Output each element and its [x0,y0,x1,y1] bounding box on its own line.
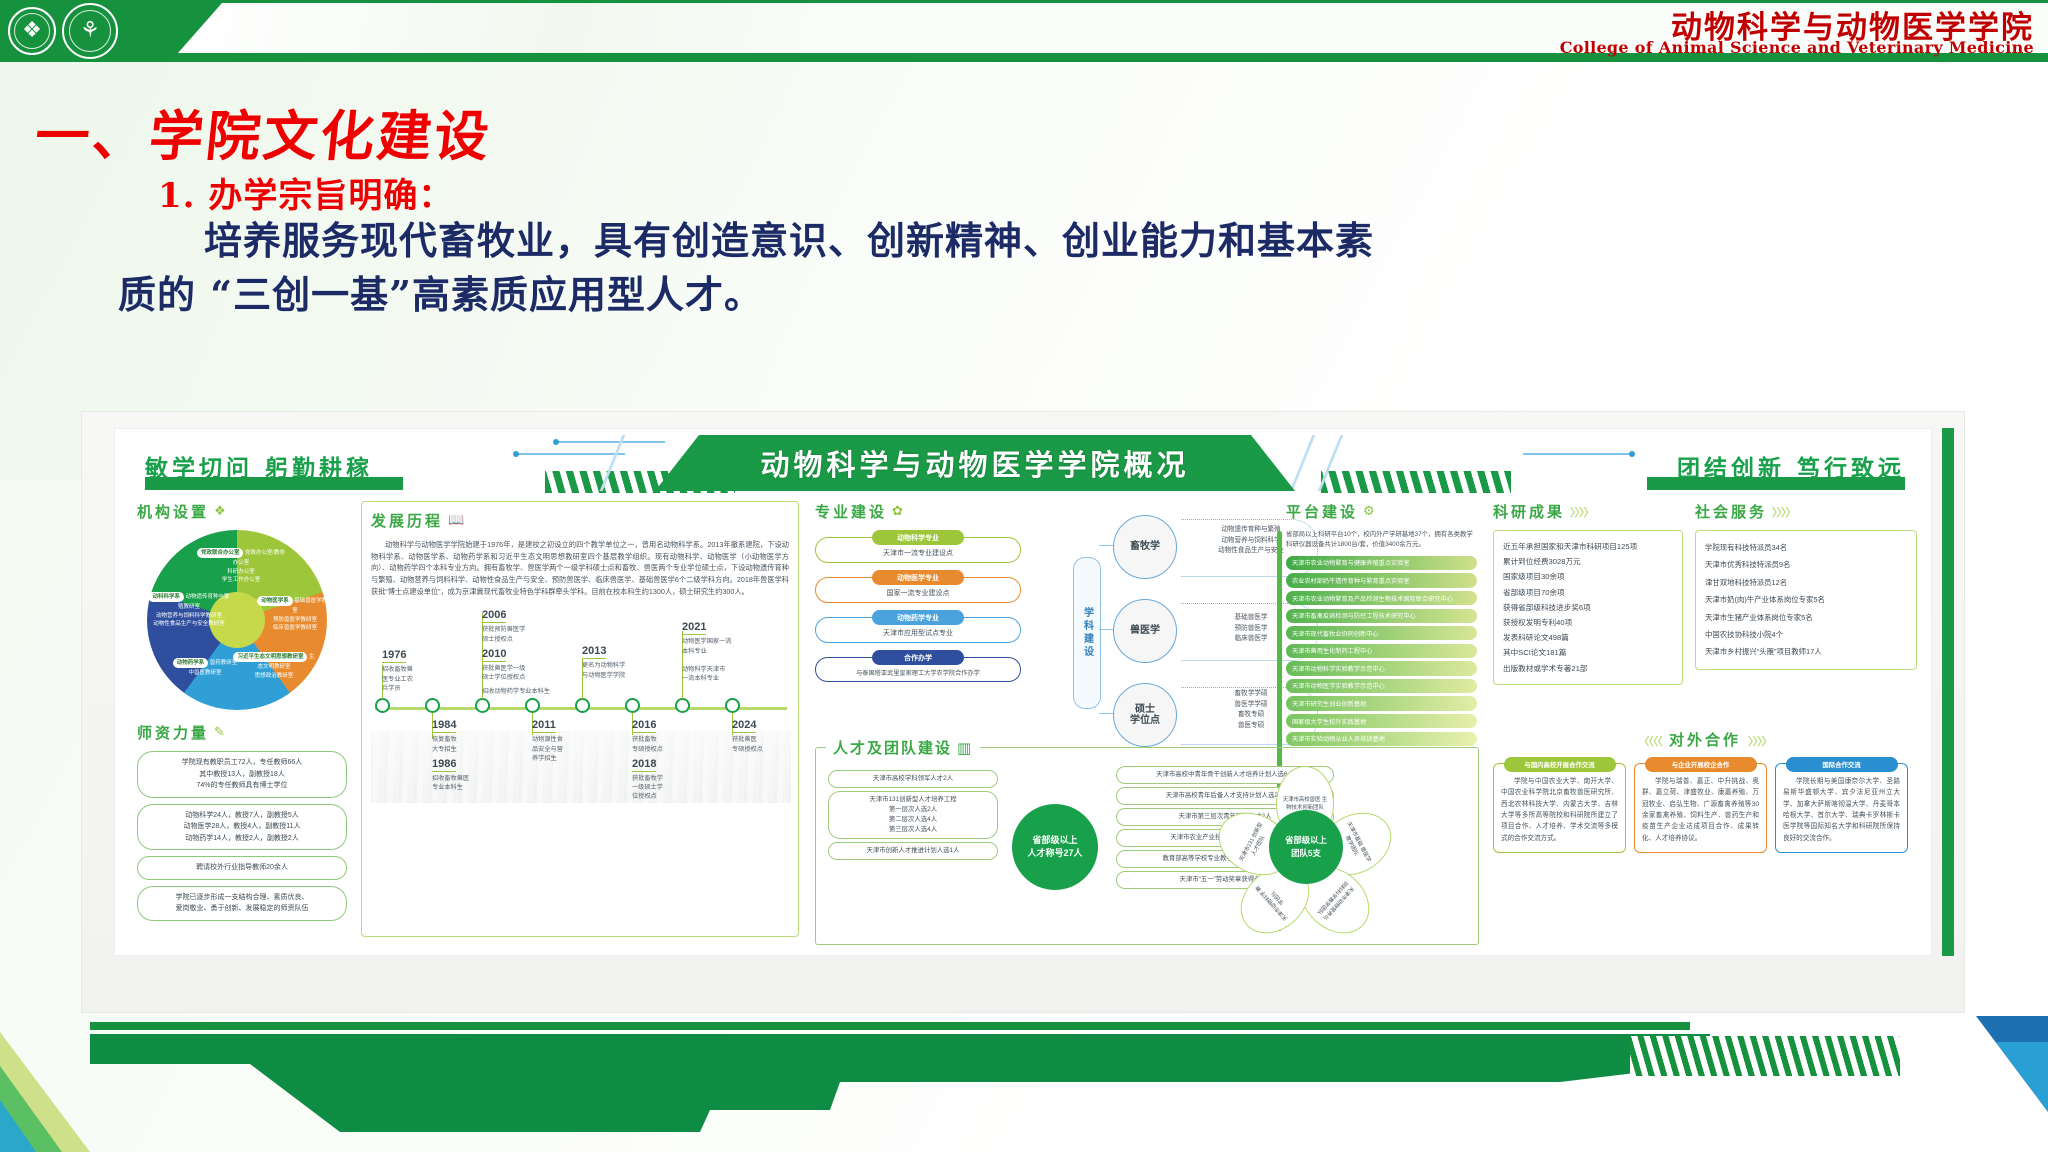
timeline-text-1986: 招收畜牧兽医 专业本科生 [432,774,516,793]
service-item-5: 中国农技协科技小院4个 [1705,626,1907,643]
cooperation-body-0: 学院与中国农业大学、南开大学、中国农业科学院北京畜牧兽医研究所、西北农林科技大学… [1493,763,1626,853]
timeline-text-2011: 动物源性食 品安全与营 养学招生 [532,735,616,763]
major-item-1: 动物医学专业 国家一流专业建设点 [815,570,1021,603]
history-paragraph-wrap: 动物科学与动物医学学院始建于1976年，是建校之初设立的四个教学单位之一，曾用名… [371,539,789,597]
section-title-history: 发展历程 📖 [371,510,789,531]
timeline-node-2 [475,698,490,713]
timeline-node-5 [625,698,640,713]
platform-item-9: 国家级大学生校外实践基地 [1286,714,1477,728]
faculty-card-2: 聘请校外行业指导教师20余人 [137,856,347,880]
display-board-content: 敏学切问 躬勤耕稼 团结创新 笃行致远 动物科学与动物医学学院概况 [114,428,1932,956]
service-frame: 学院现有科技特派员34名 天津市优秀科技特派员9名 津甘双地科技特派员12名 天… [1695,530,1917,670]
board-columns: 机构设置 ❖ 党政联合办公室 党政办公室/教务办公室 科研办公室 学生工作办公室… [115,501,1933,953]
banner-bar-right [1647,477,1905,490]
discipline-circle-1: 兽医学 [1113,599,1177,663]
timeline-text-2013: 更名为动物科学 与动物医学学院 [582,661,666,680]
discipline-circle-0: 畜牧学 [1113,515,1177,579]
history-title-text: 发展历程 [371,510,443,531]
timeline-year-1986: 1986 [432,758,456,772]
donut-chip-4: 动科科学系 [148,592,184,602]
timeline-year-2016: 2016 [632,719,656,733]
talent-team-section: 人才及团队建设 ▥ 天津市高校学科领军人才2人 天津市131创新型人才培养工程 … [815,747,1479,945]
book-icon: 📖 [448,513,467,528]
history-paragraph: 动物科学与动物医学学院始建于1976年，是建校之初设立的四个教学单位之一，曾用名… [371,539,789,597]
timeline-year-2006: 2006 [482,609,506,623]
timeline-item-2016: 2016 获批畜牧 专硕授权点 2018 获批畜牧学 一级硕士学 位授权点 [632,715,716,801]
platform-item-10: 天津市实验动物从业人员培训基地 [1286,732,1477,746]
column-history: 发展历程 📖 动物科学与动物医学学院始建于1976年，是建校之初设立的四个教学单… [361,501,799,953]
faculty-title-text: 师资力量 [137,722,209,743]
cooperation-title-text: 对外合作 [1669,732,1741,749]
platform-item-7: 天津市动物医学实验教学示范中心 [1286,679,1477,693]
timeline-item-2013: 2013 更名为动物科学 与动物医学学院 [582,641,666,680]
service-item-4: 天津市生猪产业体系岗位专家5名 [1705,609,1907,626]
chevrons-left-icon: 〈〈〈〈 [1638,736,1662,748]
timeline-node-4 [575,698,590,713]
research-item-0: 近五年承担国家和天津市科研项目125项 [1503,539,1673,554]
platform-item-3: 天津市畜禽疫病检测与防控工程技术研究中心 [1286,609,1477,623]
donut-chip-3: 动物药学系 [173,658,209,668]
banner-dot-1 [513,451,519,457]
cooperation-card-2: 国际合作交流 学院长期与美国康奈尔大学、圣路易斯华盛顿大学、宾夕法尼亚州立大学、… [1775,757,1908,853]
research-list: 近五年承担国家和天津市科研项目125项 累计到位经费3028万元 国家级项目30… [1503,539,1673,676]
timeline-text-2010: 获批兽医学一级 硕士学位授权点 [482,664,566,683]
college-emblem-logo: ⚘ [62,3,118,59]
section-title-platform: 平台建设 ⚙ [1286,501,1477,522]
pencil-icon: ✎ [214,725,228,740]
service-item-1: 天津市优秀科技特派员9名 [1705,556,1907,573]
timeline-node-1 [425,698,440,713]
footer-corner-triangles [0,1032,90,1152]
section-title-faculty: 师资力量 ✎ [137,722,347,743]
faculty-card-0: 学院现有教职员工72人，专任教师66人 其中教授13人，副教授18人 74%的专… [137,751,347,798]
service-item-0: 学院现有科技特派员34名 [1705,539,1907,556]
section-subtitle: 1. 办学宗旨明确： [158,168,453,217]
team-flower-diagram: 天津市高校兽医 生物技术创新团队 天津市基础 兽医学教学团队 天津市动物营养与 … [1220,766,1390,930]
corner-triangle-teal [0,1100,36,1152]
talent-center-badge: 省部级以上 人才称号27人 [1012,804,1098,890]
platform-item-1: 农业农村部奶牛遗传育种与繁育重点实验室 [1286,573,1477,587]
footer-top-bar [90,1022,1690,1030]
platform-item-5: 天津市兽用生化制药工程中心 [1286,644,1477,658]
bar-chart-icon: ▥ [957,739,973,757]
cooperation-card-0: 与国内高校开展合作交流 学院与中国农业大学、南开大学、中国农业科学院北京畜牧兽医… [1493,757,1626,853]
research-item-5: 获授权发明专利40项 [1503,615,1673,630]
research-item-8: 出版教材或学术专著21部 [1503,661,1673,676]
footer-corner-blue [1976,1016,2048,1112]
cooperation-head-0: 与国内高校开展合作交流 [1504,757,1616,772]
timeline-node-0 [375,698,390,713]
section-title-research: 科研成果 〉〉〉〉 [1493,501,1683,522]
cooperation-body-1: 学院与瑞普、嘉正、中升挑战、奥群、嘉立荷、津盛牧业、康嘉养殖、万冠牧业、启弘生物… [1634,763,1767,853]
research-item-2: 国家级项目30余项 [1503,569,1673,584]
timeline-text-2018: 获批畜牧学 一级硕士学 位授权点 [632,774,716,802]
donut-label-1: 动物医学系 基础兽医学教研室 预防兽医学教研室 临床兽医学教研室 [255,596,335,632]
timeline-year-2010: 2010 [482,648,506,662]
donut-label-4: 动科科学系 动物遗传育种与繁殖教研室 动物营养与饲料科学教研室 动物性食品生产与… [147,592,231,628]
research-item-1: 累计到位经费3028万元 [1503,554,1673,569]
discipline-spine: 学科建设 [1073,557,1101,709]
timeline-text-1976: 招收畜牧兽 医专业工农 兵学员 [382,665,466,693]
talent-left-item-2: 天津市创新人才推进计划人选1人 [828,842,998,860]
section-title-organization: 机构设置 ❖ [137,501,347,522]
cooperation-head-1: 与企业开展校企合作 [1645,757,1757,772]
banner-bar-left [145,477,403,490]
timeline-year-2024: 2024 [732,719,756,733]
chevrons-right-icon: 〉〉〉〉 [1570,504,1594,520]
research-title-text: 科研成果 [1493,501,1565,522]
major-item-3: 合作办学 与泰国塔亚武里皇家理工大学农学院合作办学 [815,650,1021,682]
major-head-2: 动物药学专业 [872,610,964,625]
banner-dot-2 [553,439,559,445]
platform-item-0: 天津市农业动物繁育与健康养殖重点实验室 [1286,556,1477,570]
emblem-glyph-icon: ⚘ [80,20,100,42]
university-seal-inner: ❖ [14,13,50,49]
chevrons-right-icon-3: 〉〉〉〉 [1748,736,1772,748]
timeline-year-1976: 1976 [382,649,406,663]
timeline-year-1984: 1984 [432,719,456,733]
university-seal-logo: ❖ [8,7,56,55]
chevrons-right-icon-2: 〉〉〉〉 [1772,504,1796,520]
discipline-circle-2: 硕士 学位点 [1113,683,1177,747]
cooperation-text-0: 学院与中国农业大学、南开大学、中国农业科学院北京畜牧兽医研究所、西北农林科技大学… [1501,776,1618,844]
service-list: 学院现有科技特派员34名 天津市优秀科技特派员9名 津甘双地科技特派员12名 天… [1705,539,1907,661]
organization-donut-chart: 党政联合办公室 党政办公室/教务办公室 科研办公室 学生工作办公室 动物医学系 … [137,530,337,712]
discipline-spine-label: 学科建设 [1080,607,1095,659]
talent-left-item-0: 天津市高校学科领军人才2人 [828,770,998,788]
cooperation-text-1: 学院与瑞普、嘉正、中升挑战、奥群、嘉立荷、津盛牧业、康嘉养殖、万冠牧业、启弘生物… [1642,776,1759,844]
faculty-card-3: 学院已逐步形成一支结构合理、素质优良、 爱岗敬业、勇于创新、发展稳定的师资队伍 [137,886,347,921]
banner-line-1 [515,453,625,455]
book-open-icon: ✿ [892,504,906,519]
donut-chip-0: 党政联合办公室 [197,548,244,558]
display-board-photo: 敏学切问 躬勤耕稼 团结创新 笃行致远 动物科学与动物医学学院概况 [82,412,1964,1012]
timeline-text-1984: 恢复畜牧 大专招生 [432,735,516,754]
timeline-item-2006: 2006 获批预防兽医学 硕士授权点 2010 获批兽医学一级 硕士学位授权点 … [482,605,566,696]
page-title: 一、学院文化建设 [32,92,496,171]
body-paragraph: 培养服务现代畜牧业，具有创造意识、创新精神、创业能力和基本素 质的 “三创一基”… [118,214,1818,322]
major-head-1: 动物医学专业 [872,570,964,585]
timeline-item-1976: 1976 招收畜牧兽 医专业工农 兵学员 [382,645,466,693]
section-title-service: 社会服务 〉〉〉〉 [1695,501,1917,522]
timeline-item-2024: 2024 获批兽医 专硕授权点 [732,715,816,754]
major-item-0: 动物科学专业 天津市一流专业建设点 [815,530,1021,563]
body-line-2: 质的 “三创一基”高素质应用型人才。 [118,272,763,317]
platform-item-8: 天津市研究生创业创新基地 [1286,696,1477,710]
footer-hatch-decor [1630,1036,1900,1076]
timeline-year-2018: 2018 [632,758,656,772]
major-head-3: 合作办学 [872,650,964,665]
platform-item-2: 天津市农业动物繁育及产品检测生物技术国际联合研究中心 [1286,591,1477,605]
service-item-2: 津甘双地科技特派员12名 [1705,574,1907,591]
talent-left-list: 天津市高校学科领军人才2人 天津市131创新型人才培养工程 第一层次人选2人 第… [828,770,998,863]
column-organization: 机构设置 ❖ 党政联合办公室 党政办公室/教务办公室 科研办公室 学生工作办公室… [137,501,347,953]
platform-note: 省部局以上科研平台10个，校内外产学研基地37个，拥有各类教学科研仪器设备共计1… [1286,530,1477,550]
seal-glyph-icon: ❖ [22,20,42,42]
timeline-item-1984: 1984 恢复畜牧 大专招生 1986 招收畜牧兽医 专业本科生 [432,715,516,792]
service-item-6: 天津市乡村振兴“头雁”项目教师17人 [1705,643,1907,660]
major-head-0: 动物科学专业 [872,530,964,545]
service-item-3: 天津市奶(肉)牛产业体系岗位专家5名 [1705,591,1907,608]
body-line-1: 培养服务现代畜牧业，具有创造意识、创新精神、创业能力和基本素 [118,214,1818,268]
talent-left-item-1: 天津市131创新型人才培养工程 第一层次人选2人 第二层次人选4人 第三层次人选… [828,791,998,839]
board-banner-title-plate: 动物科学与动物医学学院概况 [655,435,1295,491]
timeline-year-2013: 2013 [582,645,606,659]
timeline-text-2021: 动物医学国家一流 本科专业 动物科学天津市 一流本科专业 [682,637,766,683]
research-item-6: 发表科研论文498篇 [1503,630,1673,645]
timeline-year-2021: 2021 [682,621,706,635]
cooperation-text-2: 学院长期与美国康奈尔大学、圣路易斯华盛顿大学、宾夕法尼亚州立大学、加拿大萨斯喀彻… [1783,776,1900,844]
college-name-en: College of Animal Science and Veterinary… [1560,38,2034,57]
banner-dot-3 [1629,451,1635,457]
timeline-text-2006: 获批预防兽医学 硕士授权点 [482,625,566,644]
corner-triangle-lightblue [1996,1042,2048,1112]
platform-item-4: 天津市现代畜牧业协同创新中心 [1286,626,1477,640]
timeline-text-2016: 获批畜牧 专硕授权点 [632,735,716,754]
donut-label-0: 党政联合办公室 党政办公室/教务办公室 科研办公室 学生工作办公室 [195,548,287,584]
major-item-2: 动物药学专业 天津市应用型试点专业 [815,610,1021,643]
timeline-node-3 [525,698,540,713]
donut-chip-1: 动物医学系 [257,596,293,606]
cooperation-head-2: 国际合作交流 [1786,757,1898,772]
research-frame: 近五年承担国家和天津市科研项目125项 累计到位经费3028万元 国家级项目30… [1493,530,1683,685]
talent-title-text: 人才及团队建设 [833,737,952,758]
research-item-4: 获得省部级科技进步奖6项 [1503,600,1673,615]
organization-title-text: 机构设置 [137,501,209,522]
platform-item-6: 天津市动物科学实验教学示范中心 [1286,661,1477,675]
service-title-text: 社会服务 [1695,501,1767,522]
history-frame: 发展历程 📖 动物科学与动物医学学院始建于1976年，是建校之初设立的四个教学单… [361,501,799,937]
board-right-green-stripe [1942,428,1954,956]
timeline-node-7 [725,698,740,713]
board-banner-title: 动物科学与动物医学学院概况 [760,442,1189,484]
research-item-7: 其中SCI论文181篇 [1503,645,1673,660]
timeline-node-6 [675,698,690,713]
team-flower-core: 省部级以上 团队5支 [1269,810,1343,884]
research-item-3: 省部级项目70余项 [1503,585,1673,600]
section-title-talent: 人才及团队建设 ▥ [826,737,980,758]
timeline-text-2024: 获批兽医 专硕授权点 [732,735,816,754]
org-chart-icon: ❖ [214,504,229,519]
header-sheen [178,3,878,53]
section-title-majors: 专业建设 ✿ [815,501,1065,522]
cooperation-section: 〈〈〈〈 对外合作 〉〉〉〉 与国内高校开展合作交流 学院与中国农业大学、南开大… [1493,729,1917,943]
section-title-cooperation: 〈〈〈〈 对外合作 〉〉〉〉 [1493,729,1917,750]
college-emblem-inner: ⚘ [69,10,112,53]
board-banner-row: 敏学切问 躬勤耕稼 团结创新 笃行致远 动物科学与动物医学学院概况 [115,429,1933,499]
timeline-text-extra: 招收动物药学专业本科生 [482,687,566,696]
platform-title-text: 平台建设 [1286,501,1358,522]
majors-title-text: 专业建设 [815,501,887,522]
cooperation-cards: 与国内高校开展合作交流 学院与中国农业大学、南开大学、中国农业科学院北京畜牧兽医… [1493,757,1917,853]
page-header: ❖ ⚘ 动物科学与动物医学学院 College of Animal Scienc… [0,0,2048,62]
cooperation-body-2: 学院长期与美国康奈尔大学、圣路易斯华盛顿大学、宾夕法尼亚州立大学、加拿大萨斯喀彻… [1775,763,1908,853]
faculty-card-1: 动物科学24人，教授7人，副教授5人 动物医学28人，教授4人，副教授11人 动… [137,804,347,851]
donut-label-3: 动物药学系 兽药教研室 中兽医教研室 [165,658,245,678]
gear-icon: ⚙ [1363,504,1378,519]
timeline-item-2021: 2021 动物医学国家一流 本科专业 动物科学天津市 一流本科专业 [682,617,766,683]
history-timeline: 1976 招收畜牧兽 医专业工农 兵学员 1984 恢复畜牧 大专招生 1986… [371,603,791,803]
timeline-year-2011: 2011 [532,719,556,733]
cooperation-card-1: 与企业开展校企合作 学院与瑞普、嘉正、中升挑战、奥群、嘉立荷、津盛牧业、康嘉养殖… [1634,757,1767,853]
banner-line-3 [1523,453,1633,455]
timeline-item-2011: 2011 动物源性食 品安全与营 养学招生 [532,715,616,763]
